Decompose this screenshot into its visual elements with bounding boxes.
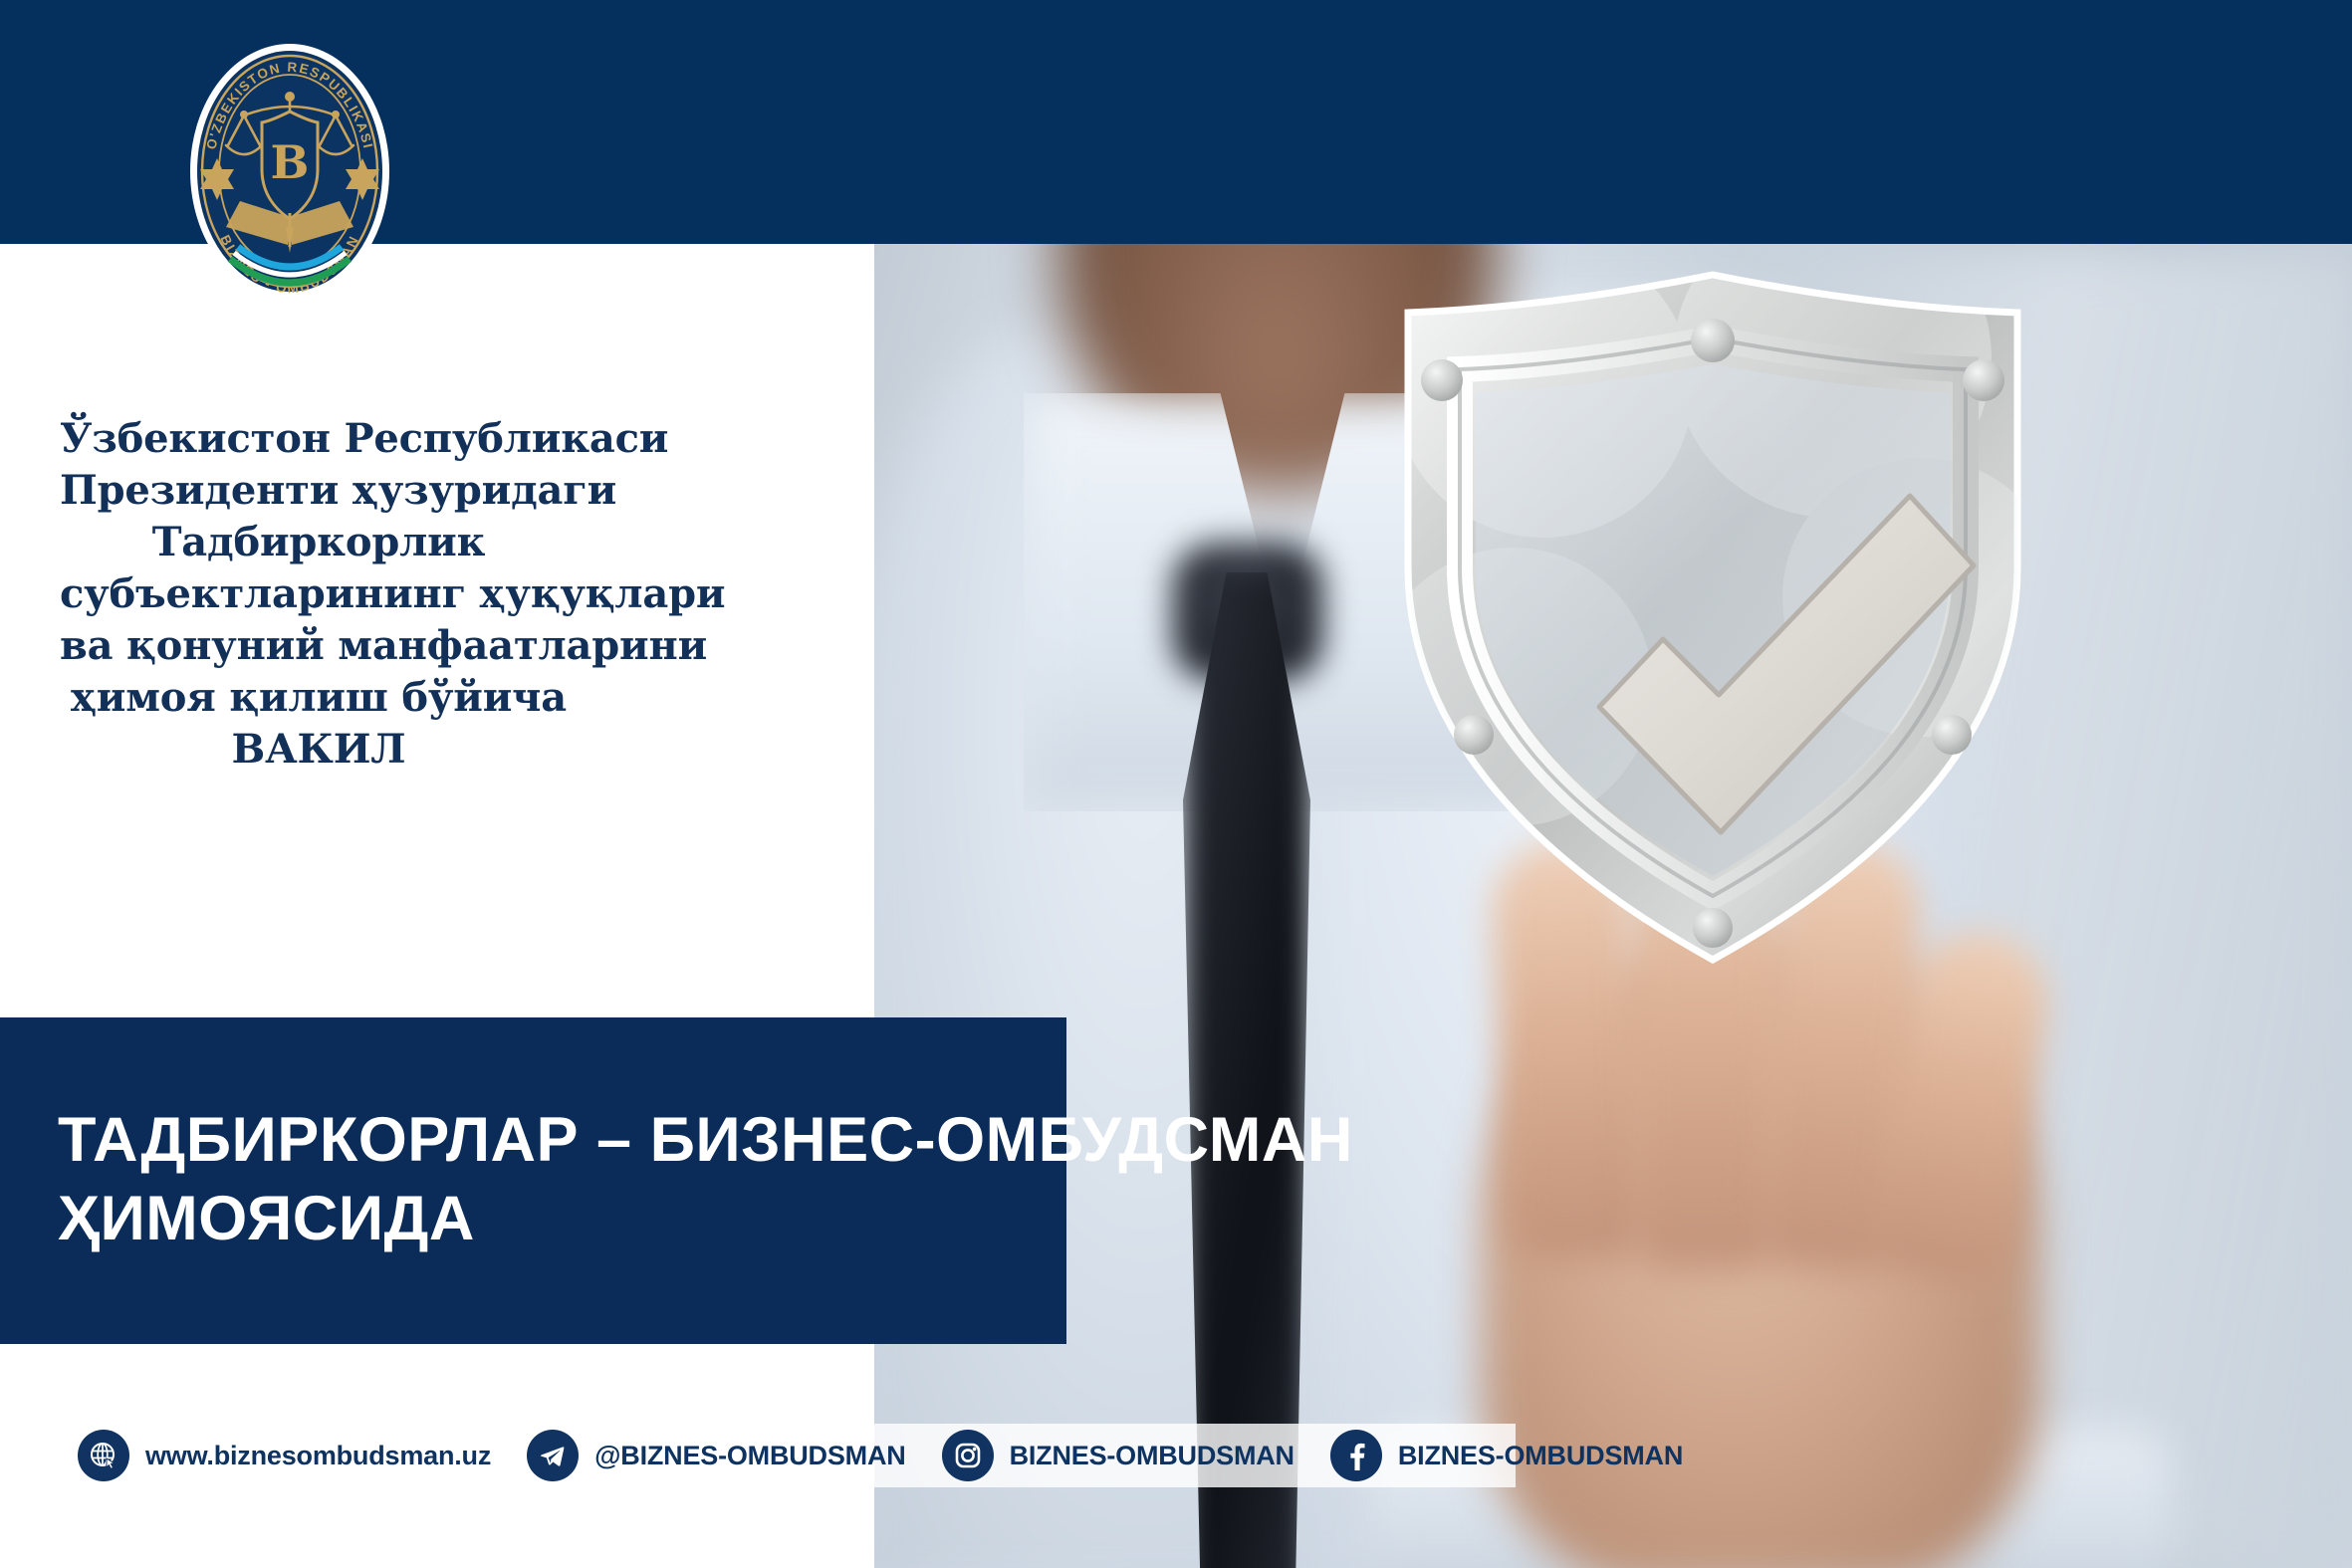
organization-emblem: O'ZBEKISTON RESPUBLIKASI BIZNES - OMBUDS…: [182, 42, 397, 301]
shield-icon: [1364, 269, 2061, 966]
social-label-website: www.biznesombudsman.uz: [145, 1441, 491, 1471]
poster-canvas: O'ZBEKISTON RESPUBLIKASI BIZNES - OMBUDS…: [0, 0, 2352, 1568]
shield-graphic: [1364, 269, 2061, 966]
social-label-instagram: BIZNES-OMBUDSMAN: [1010, 1441, 1294, 1471]
instagram-icon: [942, 1430, 994, 1481]
org-line: ва қонуний манфаатларини: [60, 620, 578, 672]
social-link-instagram[interactable]: BIZNES-OMBUDSMAN: [942, 1418, 1308, 1493]
globe-icon: [78, 1430, 129, 1481]
org-line: ВАКИЛ: [60, 724, 578, 776]
social-link-telegram[interactable]: @BIZNES-OMBUDSMAN: [527, 1418, 919, 1493]
org-line: Президенти ҳузуридаги: [60, 465, 578, 517]
org-line: субъектларининг ҳуқуқлари: [60, 568, 578, 620]
footer-social-bar: www.biznesombudsman.uz @BIZNES-OMBUDSMAN…: [78, 1418, 1697, 1493]
social-label-facebook: BIZNES-OMBUDSMAN: [1398, 1441, 1683, 1471]
emblem-icon: O'ZBEKISTON RESPUBLIKASI BIZNES - OMBUDS…: [182, 42, 397, 301]
org-line: Тадбиркорлик: [60, 517, 578, 568]
social-link-facebook[interactable]: BIZNES-OMBUDSMAN: [1330, 1418, 1697, 1493]
headline-line: ТАДБИРКОРЛАР – БИЗНЕС-ОМБУДСМАН: [58, 1101, 1054, 1180]
org-line: Ўзбекистон Республикаси: [60, 413, 578, 465]
social-link-website[interactable]: www.biznesombudsman.uz: [78, 1418, 505, 1493]
facebook-icon: [1330, 1430, 1382, 1481]
org-line: ҳимоя қилиш бўйича: [60, 672, 578, 724]
telegram-icon: [527, 1430, 579, 1481]
social-label-telegram: @BIZNES-OMBUDSMAN: [594, 1441, 905, 1471]
headline-line: ҲИМОЯСИДА: [58, 1180, 1054, 1258]
headline-text: ТАДБИРКОРЛАР – БИЗНЕС-ОМБУДСМАН ҲИМОЯСИД…: [58, 1101, 1054, 1259]
svg-text:B: B: [271, 135, 310, 189]
headline-banner: ТАДБИРКОРЛАР – БИЗНЕС-ОМБУДСМАН ҲИМОЯСИД…: [0, 1017, 1066, 1344]
organization-name: Ўзбекистон Республикаси Президенти ҳузур…: [60, 413, 578, 776]
